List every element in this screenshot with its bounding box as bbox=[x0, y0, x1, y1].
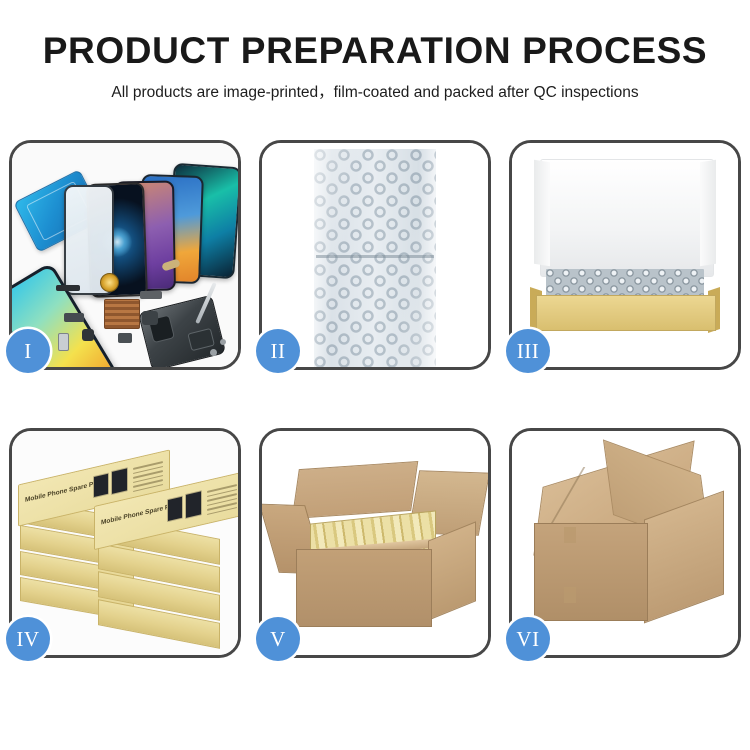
small-part bbox=[58, 333, 69, 351]
chip-array-part bbox=[104, 299, 140, 329]
carton-front-face bbox=[534, 523, 648, 621]
carton-tape-mark bbox=[564, 527, 576, 543]
small-part bbox=[56, 285, 80, 291]
step-badge-2: II bbox=[256, 329, 300, 373]
sealed-carton-scene bbox=[512, 431, 738, 655]
step-badge-3: III bbox=[506, 329, 550, 373]
process-step-panel-6[interactable]: VI bbox=[509, 428, 741, 658]
copper-coil-part bbox=[100, 273, 119, 292]
panel-1-image bbox=[12, 143, 238, 367]
carton-tape-mark bbox=[564, 587, 576, 603]
panel-4-image: Mobile Phone Spare Parts Mobile Phone Sp… bbox=[12, 431, 238, 655]
process-step-panel-5[interactable]: V bbox=[259, 428, 491, 658]
process-step-panel-3[interactable]: III bbox=[509, 140, 741, 370]
open-carton-scene bbox=[262, 431, 488, 655]
page-header: PRODUCT PREPARATION PROCESS All products… bbox=[0, 0, 750, 130]
bubble-wrap-roll bbox=[314, 149, 436, 367]
phone-parts-scene bbox=[12, 143, 238, 367]
process-step-grid: I II III bbox=[9, 140, 741, 740]
white-box-lid bbox=[540, 159, 714, 277]
step-badge-1: I bbox=[6, 329, 50, 373]
screw-part bbox=[210, 349, 217, 356]
carton-front-face bbox=[296, 549, 432, 627]
wrap-fold-line bbox=[316, 255, 434, 258]
small-part bbox=[82, 329, 94, 341]
step-badge-5: V bbox=[256, 617, 300, 661]
box-tray-front bbox=[536, 295, 716, 331]
panel-2-image bbox=[262, 143, 488, 367]
box-label-phone-image bbox=[167, 496, 183, 523]
panel-6-image bbox=[512, 431, 738, 655]
process-step-panel-1[interactable]: I bbox=[9, 140, 241, 370]
small-part bbox=[142, 311, 158, 325]
plastic-sheen bbox=[314, 149, 436, 367]
panel-5-image bbox=[262, 431, 488, 655]
step-badge-4: IV bbox=[6, 617, 50, 661]
box-label-phone-image bbox=[111, 467, 128, 495]
carton-flap-back bbox=[292, 461, 419, 519]
panel-3-image bbox=[512, 143, 738, 367]
page-title: PRODUCT PREPARATION PROCESS bbox=[0, 0, 750, 71]
small-part bbox=[64, 313, 84, 322]
step-badge-6: VI bbox=[506, 617, 550, 661]
bubble-wrap-scene bbox=[262, 143, 488, 367]
stacked-boxes-scene: Mobile Phone Spare Parts Mobile Phone Sp… bbox=[12, 431, 238, 655]
phone-back-housing bbox=[138, 295, 226, 367]
page-subtitle: All products are image-printed，film-coat… bbox=[0, 71, 750, 102]
lid-flap-right bbox=[700, 160, 716, 267]
small-part bbox=[118, 333, 132, 343]
screw-part bbox=[220, 339, 226, 345]
lid-flap-left bbox=[534, 160, 550, 267]
process-step-panel-2[interactable]: II bbox=[259, 140, 491, 370]
box-label-phone-image bbox=[185, 490, 202, 519]
small-part bbox=[140, 291, 162, 299]
process-step-panel-4[interactable]: Mobile Phone Spare Parts Mobile Phone Sp… bbox=[9, 428, 241, 658]
inner-box-scene bbox=[512, 143, 738, 367]
box-label-phone-image bbox=[93, 473, 109, 499]
